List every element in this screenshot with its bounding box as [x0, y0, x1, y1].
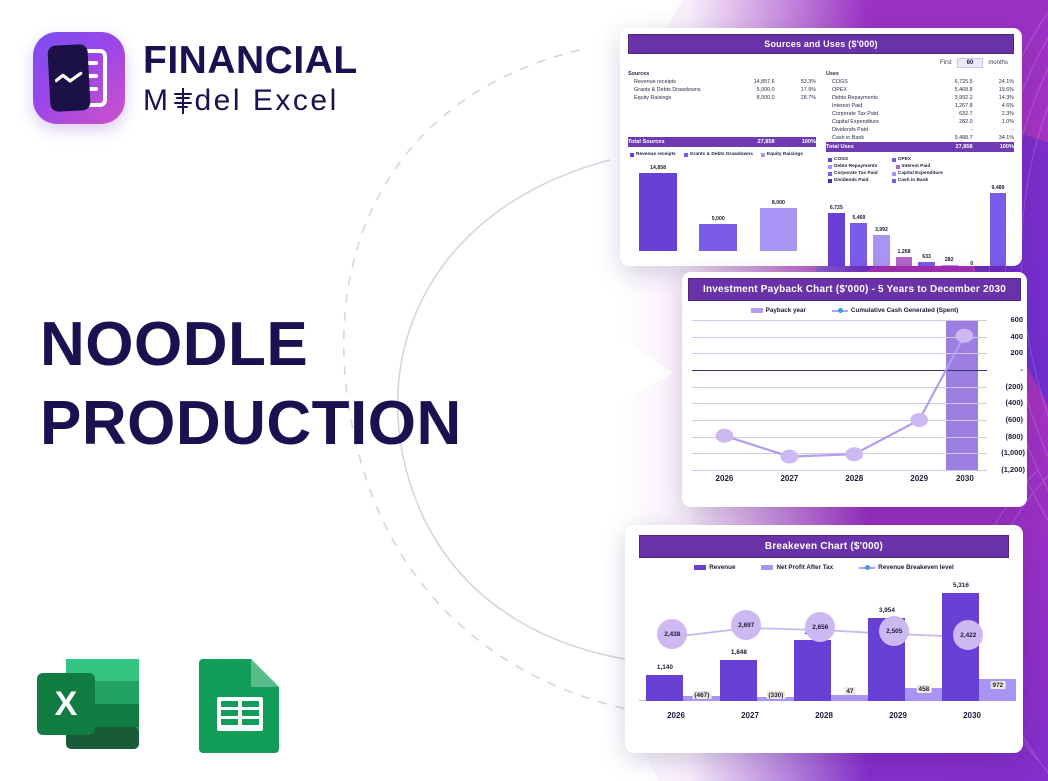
table-row: Cash in Bank9,488.734.1%: [826, 134, 1014, 142]
legend-item: Debts Repayments: [828, 164, 888, 169]
page-title: NOODLE PRODUCTION: [40, 305, 462, 464]
bar: [918, 262, 935, 266]
sources-bar-chart: 14,858 5,000 8,000: [628, 159, 816, 251]
zigzag-icon: [55, 71, 84, 84]
bar: [760, 208, 798, 251]
sources-chart-legend: Revenue receipts Grants & Debts Drawdown…: [630, 152, 816, 157]
uses-total-row: Total Uses27,858100%: [826, 142, 1014, 152]
legend-item: Revenue: [694, 564, 735, 571]
breakeven-node: 2,697: [731, 610, 761, 640]
headline-line-2: PRODUCTION: [40, 384, 462, 463]
legend-item: Corporate Tax Paid: [828, 171, 884, 176]
table-row: Uses: [826, 70, 1014, 78]
brand-logo: FINANCIAL M del Excel: [33, 32, 358, 124]
revenue-bar: [720, 660, 757, 701]
legend-item: OPEX: [892, 157, 948, 162]
table-row: Sources: [628, 70, 816, 78]
abacus-o-icon: [171, 86, 195, 116]
breakeven-card[interactable]: Breakeven Chart ($'000) Revenue Net Prof…: [625, 525, 1023, 753]
bar: [873, 235, 890, 266]
investment-payback-title: Investment Payback Chart ($'000) - 5 Yea…: [688, 278, 1021, 301]
uses-bar-chart: 6,725 5,469 3,992 1,268 633 282 0 9,48: [826, 185, 1014, 266]
brand-wordmark: FINANCIAL M del Excel: [143, 41, 358, 116]
breakeven-title: Breakeven Chart ($'000): [639, 535, 1009, 558]
legend-item: Interest Paid: [896, 164, 952, 169]
headline-line-1: NOODLE: [40, 305, 462, 384]
period-prefix: First: [940, 60, 952, 66]
cumulative-cash-markers: [692, 320, 987, 470]
bar: [990, 193, 1007, 266]
table-row: OPEX5,468.819.6%: [826, 86, 1014, 94]
revenue-bar: [646, 675, 683, 701]
period-value[interactable]: 60: [957, 58, 984, 68]
sources-total-row: Total Sources27,858100%: [628, 137, 816, 147]
format-icons: X: [33, 655, 295, 753]
uses-column: Uses COGS6,725.524.1% OPEX5,468.819.6% D…: [826, 70, 1014, 266]
legend-item: Revenue Breakeven level: [859, 564, 954, 571]
legend-item: Dividends Paid: [828, 178, 884, 183]
table-row: Debts Repayments3,992.214.3%: [826, 94, 1014, 102]
breakeven-plot-area: 1,140 (467) 2,438 1,848 (330) 2,697 2,81…: [639, 581, 1009, 701]
legend-item: Revenue receipts: [630, 152, 676, 157]
chart-card-icon: [47, 44, 90, 112]
uses-table: Uses COGS6,725.524.1% OPEX5,468.819.6% D…: [826, 70, 1014, 152]
legend-item: Cumulative Cash Generated (Spent): [832, 307, 958, 314]
breakeven-node: 2,656: [805, 612, 835, 642]
table-row: Interest Paid1,267.84.6%: [826, 102, 1014, 110]
sources-column: Sources Revenue receipts14,857.653.3% Gr…: [628, 70, 816, 266]
brand-line-2-post: del Excel: [195, 86, 339, 116]
google-sheets-icon: [185, 655, 295, 753]
bar: [896, 257, 913, 266]
legend-item: Cash in Bank: [892, 178, 948, 183]
brand-line-2: M del Excel: [143, 86, 358, 116]
table-row: Grants & Debts Drawdowns5,000.017.9%: [628, 86, 816, 94]
legend-item: Grants & Debts Drawdowns: [684, 152, 753, 157]
table-row: COGS6,725.524.1%: [826, 78, 1014, 86]
breakeven-chart-legend: Revenue Net Profit After Tax Revenue Bre…: [639, 564, 1009, 571]
investment-payback-card[interactable]: Investment Payback Chart ($'000) - 5 Yea…: [682, 272, 1027, 507]
table-row: Equity Raisings8,000.028.7%: [628, 94, 816, 102]
legend-item: Payback year: [751, 307, 806, 314]
sources-heading: Sources: [628, 70, 718, 78]
period-selector[interactable]: First 60 months: [628, 58, 1008, 68]
breakeven-node: 2,438: [657, 619, 687, 649]
financial-model-card-icon: [33, 32, 125, 124]
breakeven-x-axis: 2026 2027 2028 2029 2030: [639, 711, 1009, 725]
poster-canvas: FINANCIAL M del Excel NOODLE PRODUCTION …: [0, 0, 1048, 781]
brand-line-2-pre: M: [143, 86, 171, 116]
payback-x-axis: 2026 2027 2028 2029 2030: [692, 474, 987, 488]
breakeven-node: 2,505: [879, 616, 909, 646]
revenue-bar: [794, 640, 831, 701]
table-row: Revenue receipts14,857.653.3%: [628, 78, 816, 86]
legend-item: Capital Expenditure: [892, 171, 952, 176]
uses-chart-legend: COGS OPEX Debts Repayments Interest Paid…: [828, 157, 1014, 183]
bar: [850, 223, 867, 266]
bar: [639, 173, 677, 251]
npat-bar: [831, 695, 868, 701]
bar: [828, 213, 845, 266]
sources-table: Sources Revenue receipts14,857.653.3% Gr…: [628, 70, 816, 147]
bar: [941, 265, 958, 266]
brand-line-1: FINANCIAL: [143, 41, 358, 80]
sources-and-uses-card[interactable]: Sources and Uses ($'000) First 60 months…: [620, 28, 1022, 266]
legend-item: Net Profit After Tax: [761, 564, 833, 571]
legend-item: Equity Raisings: [761, 152, 803, 157]
breakeven-node: 2,422: [953, 620, 983, 650]
microsoft-excel-icon: X: [33, 655, 143, 753]
uses-heading: Uses: [826, 70, 916, 78]
bar: [699, 224, 737, 251]
table-row: Capital Expenditure282.01.0%: [826, 118, 1014, 126]
payback-chart-legend: Payback year Cumulative Cash Generated (…: [688, 307, 1021, 314]
sources-and-uses-title: Sources and Uses ($'000): [628, 34, 1014, 54]
svg-text:X: X: [55, 685, 78, 723]
legend-item: COGS: [828, 157, 884, 162]
period-suffix: months: [988, 60, 1008, 66]
payback-plot-area: 600 400 200 - (200) (400) (600) (800) (1…: [692, 320, 987, 470]
table-row: Dividends Paid--: [826, 126, 1014, 134]
table-row: Corporate Tax Paid632.72.3%: [826, 110, 1014, 118]
